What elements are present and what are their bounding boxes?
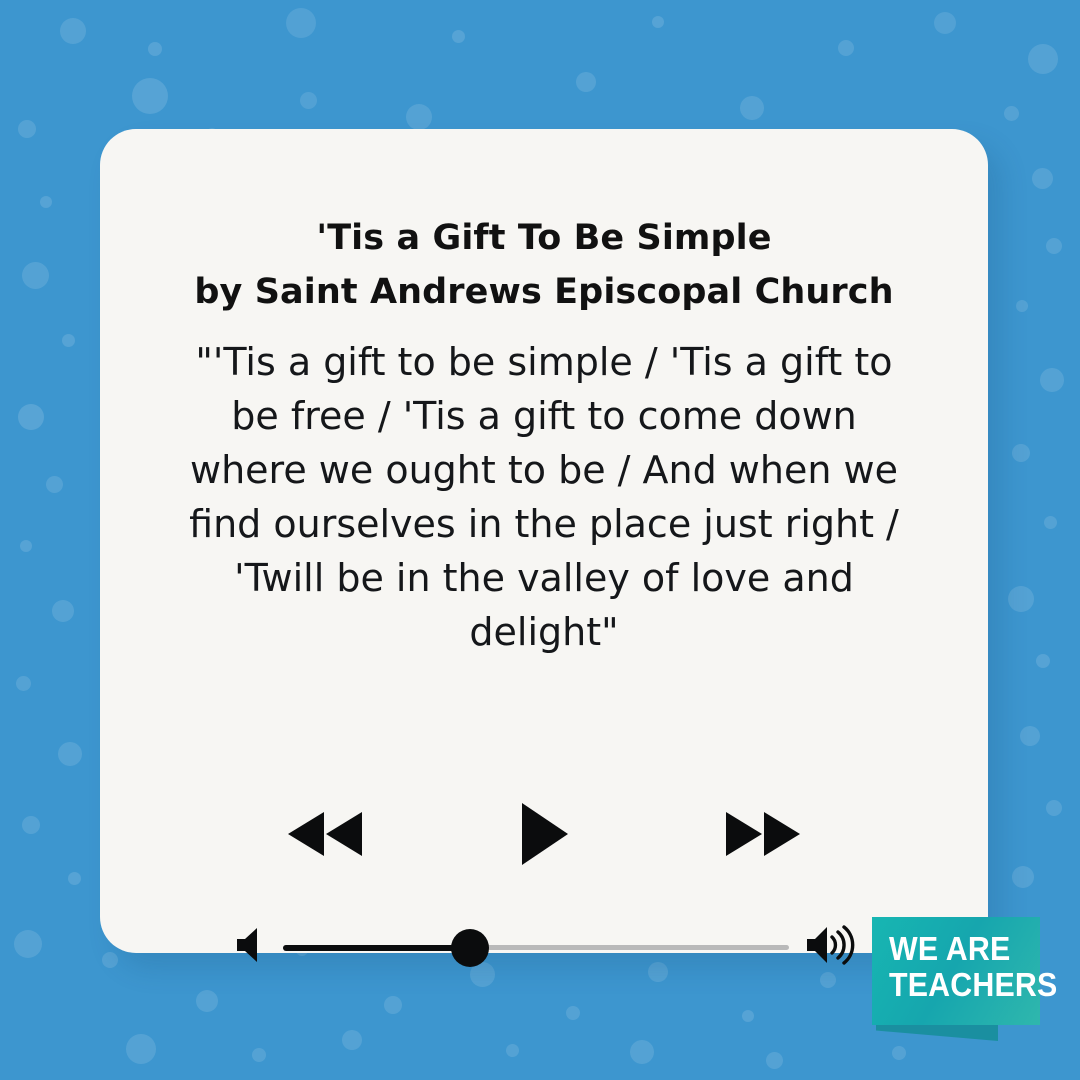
background-bubble bbox=[58, 742, 82, 766]
background-bubble bbox=[406, 104, 432, 130]
transport-controls bbox=[100, 801, 988, 867]
background-bubble bbox=[766, 1052, 783, 1069]
background-bubble bbox=[740, 96, 764, 120]
background-bubble bbox=[68, 872, 81, 885]
background-bubble bbox=[934, 12, 956, 34]
background-bubble bbox=[384, 996, 402, 1014]
logo-text: WE ARE TEACHERS bbox=[889, 931, 1057, 1003]
background-bubble bbox=[1016, 300, 1028, 312]
background-bubble bbox=[196, 990, 218, 1012]
background-bubble bbox=[1012, 866, 1034, 888]
fast-forward-button[interactable] bbox=[720, 808, 806, 860]
background-bubble bbox=[630, 1040, 654, 1064]
background-bubble bbox=[52, 600, 74, 622]
volume-high-icon[interactable] bbox=[805, 924, 855, 971]
background-bubble bbox=[22, 816, 40, 834]
background-bubble bbox=[506, 1044, 519, 1057]
background-bubble bbox=[1044, 516, 1057, 529]
background-bubble bbox=[300, 92, 317, 109]
background-bubble bbox=[148, 42, 162, 56]
background-bubble bbox=[342, 1030, 362, 1050]
background-bubble bbox=[838, 40, 854, 56]
lyrics-text: "'Tis a gift to be simple / 'Tis a gift … bbox=[187, 335, 901, 659]
background-bubble bbox=[1036, 654, 1050, 668]
logo-line-1: WE ARE bbox=[889, 931, 1057, 967]
background-bubble bbox=[18, 120, 36, 138]
background-bubble bbox=[892, 1046, 906, 1060]
background-bubble bbox=[1032, 168, 1053, 189]
background-bubble bbox=[1028, 44, 1058, 74]
song-title: 'Tis a Gift To Be Simple bbox=[140, 211, 948, 265]
background-bubble bbox=[820, 972, 836, 988]
logo-line-2: TEACHERS bbox=[889, 967, 1057, 1003]
play-icon bbox=[516, 801, 572, 867]
background-bubble bbox=[1004, 106, 1019, 121]
volume-low-icon[interactable] bbox=[233, 925, 267, 970]
background-bubble bbox=[1012, 444, 1030, 462]
fast-forward-icon bbox=[720, 808, 806, 860]
background-bubble bbox=[452, 30, 465, 43]
background-bubble bbox=[252, 1048, 266, 1062]
weareteachers-logo: WE ARE TEACHERS bbox=[872, 917, 1040, 1025]
background-bubble bbox=[126, 1034, 156, 1064]
background-bubble bbox=[16, 676, 31, 691]
background-bubble bbox=[576, 72, 596, 92]
background-bubble bbox=[46, 476, 63, 493]
volume-thumb[interactable] bbox=[451, 929, 489, 967]
background-bubble bbox=[1046, 800, 1062, 816]
background-bubble bbox=[60, 18, 86, 44]
background-bubble bbox=[14, 930, 42, 958]
logo-badge: WE ARE TEACHERS bbox=[872, 917, 1040, 1025]
background-bubble bbox=[1046, 238, 1062, 254]
background-bubble bbox=[22, 262, 49, 289]
background-bubble bbox=[652, 16, 664, 28]
background-bubble bbox=[1008, 586, 1034, 612]
volume-track-fill bbox=[283, 945, 470, 951]
background-bubble bbox=[566, 1006, 580, 1020]
music-player-card: 'Tis a Gift To Be Simple by Saint Andrew… bbox=[100, 129, 988, 953]
background-bubble bbox=[18, 404, 44, 430]
song-heading: 'Tis a Gift To Be Simple by Saint Andrew… bbox=[140, 129, 948, 319]
volume-slider[interactable] bbox=[283, 930, 789, 966]
background-bubble bbox=[286, 8, 316, 38]
background-bubble bbox=[62, 334, 75, 347]
volume-control-row bbox=[100, 924, 988, 971]
background-bubble bbox=[1020, 726, 1040, 746]
background-bubble bbox=[132, 78, 168, 114]
rewind-button[interactable] bbox=[282, 808, 368, 860]
background-bubble bbox=[742, 1010, 754, 1022]
background-bubble bbox=[40, 196, 52, 208]
rewind-icon bbox=[282, 808, 368, 860]
play-button[interactable] bbox=[516, 801, 572, 867]
song-byline: by Saint Andrews Episcopal Church bbox=[140, 265, 948, 319]
background-bubble bbox=[1040, 368, 1064, 392]
background-bubble bbox=[20, 540, 32, 552]
